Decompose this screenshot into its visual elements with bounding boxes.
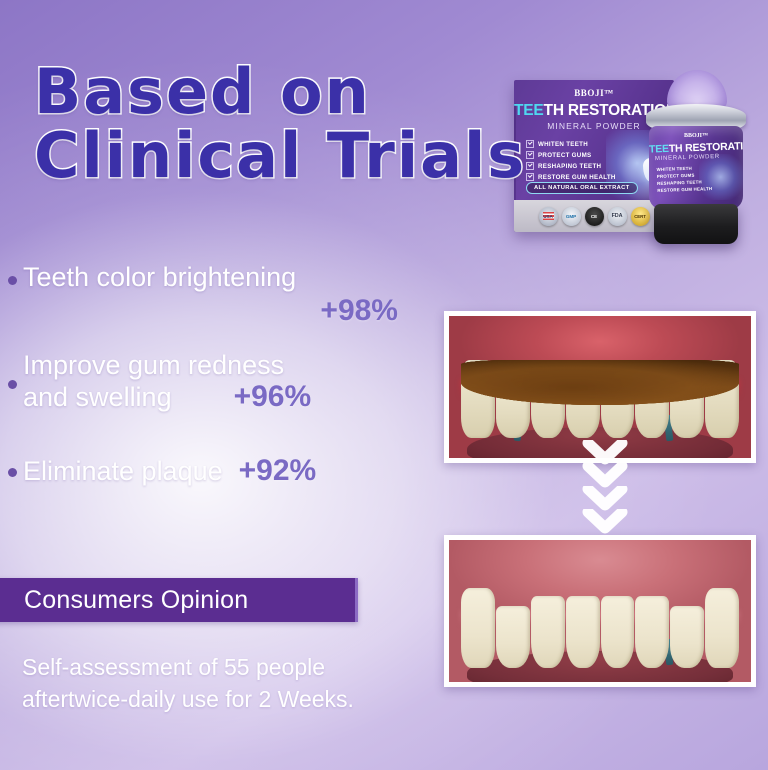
box-feature-item: WHITEN TEETH: [526, 140, 616, 148]
tooth: [635, 596, 669, 668]
seal-label: FDA: [612, 213, 623, 219]
benefit-percent: +92%: [239, 454, 317, 488]
benefit-label: Eliminate plaque: [23, 456, 223, 486]
product-jar: BBOJI™ TEETH RESTORATION MINERAL POWDER …: [640, 70, 752, 256]
tartar-stain: [461, 360, 739, 405]
study-caption: Self-assessment of 55 people aftertwice-…: [22, 652, 452, 715]
caption-line-2: aftertwice-daily use for 2 Weeks.: [22, 684, 452, 716]
bullet-dot-icon: [8, 276, 17, 285]
box-feature-label: RESTORE GUM HEALTH: [538, 174, 616, 181]
box-feature-label: RESHAPING TEETH: [538, 163, 601, 170]
banner-label: Consumers Opinion: [24, 586, 248, 615]
box-feature-list: WHITEN TEETH PROTECT GUMS RESHAPING TEET…: [526, 140, 616, 184]
jar-feature-label: PROTECT GUMS: [657, 172, 712, 179]
bullet-dot-icon: [8, 380, 17, 389]
benefit-label: Teeth color brightening: [23, 262, 440, 292]
jar-feature-label: RESTORE GUM HEALTH: [657, 186, 712, 193]
tooth: [566, 596, 600, 668]
jar-title-rest: TH RESTORATION: [669, 140, 743, 155]
tooth: [670, 606, 704, 668]
jar-base: [654, 204, 738, 244]
after-photo: [444, 535, 756, 687]
advertisement-poster: Based on Clinical Trials BBOJI™ TEETH RE…: [0, 0, 768, 770]
tooth: [705, 588, 739, 668]
box-natural-tagline: ALL NATURAL ORAL EXTRACT: [526, 182, 638, 194]
after-teeth-row: [461, 588, 739, 668]
quality-seal-icon: GMP: [562, 207, 581, 226]
headline-line-1: Based on: [34, 62, 534, 122]
box-feature-item: PROTECT GUMS: [526, 151, 616, 159]
benefit-item-eliminate-plaque: Eliminate plaque +92%: [8, 454, 440, 488]
us-flag-seal-icon: USA: [539, 207, 558, 226]
jar-title-accent: TEE: [649, 143, 669, 156]
tooth: [496, 606, 530, 668]
before-teeth-row: [461, 360, 739, 438]
fda-seal-icon: FDA: [608, 207, 627, 226]
bullet-dot-icon: [8, 468, 17, 477]
jar-feature-label: WHITEN TEETH: [657, 165, 712, 172]
consumers-opinion-banner: Consumers Opinion: [0, 578, 358, 622]
jar-feature-label: RESHAPING TEETH: [657, 179, 712, 186]
tooth: [670, 382, 704, 438]
jar-label: BBOJI™ TEETH RESTORATION MINERAL POWDER …: [649, 126, 743, 210]
benefit-label-line-2: and swelling: [23, 382, 172, 412]
benefit-percent: +96%: [234, 380, 312, 414]
box-feature-item: RESTORE GUM HEALTH: [526, 173, 616, 181]
box-feature-label: WHITEN TEETH: [538, 141, 588, 148]
benefit-list: Teeth color brightening +98% Improve gum…: [8, 262, 440, 496]
seal-label: CE: [591, 214, 597, 219]
headline-line-2: Clinical Trials: [34, 126, 534, 186]
box-feature-item: RESHAPING TEETH: [526, 162, 616, 170]
jar-brand-name: BBOJI™: [649, 133, 743, 139]
seal-label: GMP: [566, 214, 576, 219]
benefit-percent: +98%: [320, 294, 398, 327]
tooth: [531, 596, 565, 668]
chevron-down-icon: [582, 509, 628, 535]
tooth: [461, 588, 495, 668]
benefit-label-line-1: Improve gum redness: [23, 350, 440, 380]
benefit-item-gum-redness: Improve gum redness and swelling +96%: [8, 350, 440, 414]
jar-feature-list: WHITEN TEETH PROTECT GUMS RESHAPING TEET…: [657, 165, 713, 195]
transition-arrows: [575, 440, 635, 532]
benefit-item-teeth-brightening: Teeth color brightening +98%: [8, 262, 440, 328]
seal-label: USA: [543, 214, 552, 219]
black-seal-icon: CE: [585, 207, 604, 226]
page-title: Based on Clinical Trials: [34, 62, 534, 185]
caption-line-1: Self-assessment of 55 people: [22, 652, 452, 684]
box-feature-label: PROTECT GUMS: [538, 152, 591, 159]
tooth: [601, 596, 635, 668]
